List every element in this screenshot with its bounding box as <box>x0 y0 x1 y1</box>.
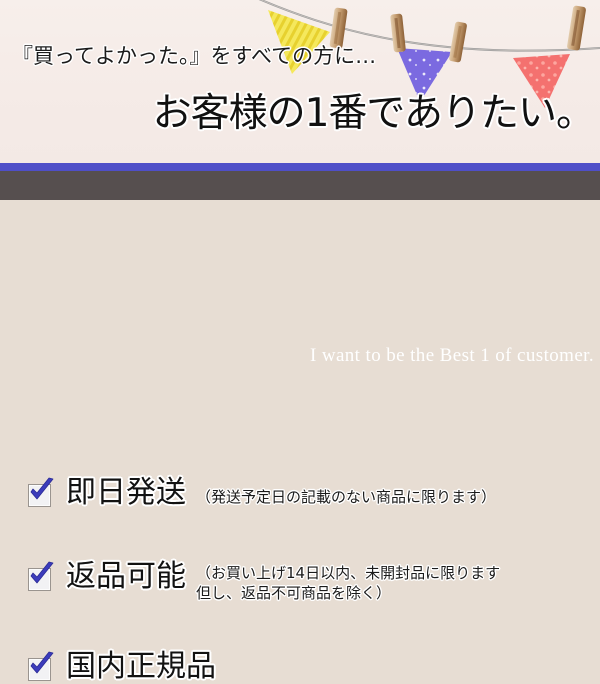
list-item: 即日発送 （発送予定日の記載のない商品に限ります） <box>26 478 496 508</box>
accent-bar <box>0 163 600 171</box>
feature-note: （発送予定日の記載のない商品に限ります） <box>196 487 496 507</box>
banner-header: 『買ってよかった。』をすべての方に… お客様の1番でありたい。 <box>0 0 600 163</box>
feature-list: 即日発送 （発送予定日の記載のない商品に限ります） 返品可能 （お買い上げ14日… <box>0 200 600 600</box>
list-item: 国内正規品 <box>26 652 226 682</box>
feature-title: 国内正規品 <box>66 652 216 682</box>
checkbox-checked-icon <box>26 480 54 508</box>
tagline-bar: I want to be the Best 1 of customer. <box>0 171 600 200</box>
feature-title: 即日発送 <box>66 478 186 508</box>
bunting-decoration <box>0 0 600 163</box>
header-lead-text: 『買ってよかった。』をすべての方に… <box>12 40 432 70</box>
feature-title: 返品可能 <box>66 562 186 592</box>
list-item: 返品可能 （お買い上げ14日以内、未開封品に限ります 但し、返品不可商品を除く） <box>26 562 500 612</box>
checkbox-checked-icon <box>26 564 54 592</box>
promo-banner: 『買ってよかった。』をすべての方に… お客様の1番でありたい。 I want t… <box>0 0 600 600</box>
checkbox-checked-icon <box>26 654 54 682</box>
feature-note: （お買い上げ14日以内、未開封品に限ります 但し、返品不可商品を除く） <box>196 563 500 604</box>
header-main-text: お客様の1番でありたい。 <box>153 94 594 133</box>
